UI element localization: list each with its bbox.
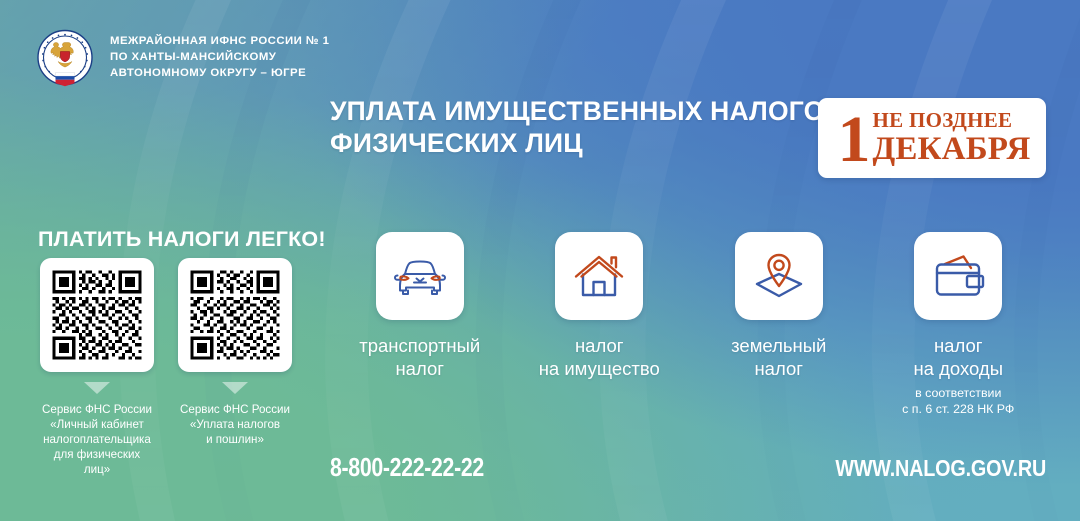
tax-payment-banner: МЕЖРАЙОННАЯ ИФНС РОССИИ № 1 ПО ХАНТЫ-МАН…: [0, 0, 1080, 521]
page-title: УПЛАТА ИМУЩЕСТВЕННЫХ НАЛОГОВ ФИЗИЧЕСКИХ …: [330, 95, 844, 159]
qr-code-image: [49, 267, 145, 363]
header-line-3: АВТОНОМНОМУ ОКРУГУ – ЮГРЕ: [110, 65, 329, 81]
deadline-badge: 1 НЕ ПОЗДНЕЕ ДЕКАБРЯ: [818, 98, 1046, 178]
tax-card-income[interactable]: налог на доходы в соответствии с п. 6 ст…: [869, 232, 1049, 417]
website-url[interactable]: WWW.NALOG.GOV.RU: [835, 455, 1046, 482]
qr-code-card[interactable]: [178, 258, 292, 372]
page-title-line-2: ФИЗИЧЕСКИХ ЛИЦ: [330, 127, 844, 159]
tax-card-sublabel: в соответствии с п. 6 ст. 228 НК РФ: [902, 386, 1014, 417]
chevron-down-triangle-icon: [84, 382, 110, 394]
deadline-month-label: ДЕКАБРЯ: [872, 133, 1030, 166]
qr-code-list: Сервис ФНС России «Личный кабинет налого…: [40, 258, 292, 477]
tax-card-tile: [376, 232, 464, 320]
deadline-day-number: 1: [837, 110, 868, 170]
car-front-icon: [391, 252, 449, 300]
chevron-down-triangle-icon: [222, 382, 248, 394]
qr-caption: Сервис ФНС России «Уплата налогов и пошл…: [180, 402, 290, 447]
qr-code-image: [187, 267, 283, 363]
tax-card-transport[interactable]: транспортный налог: [330, 232, 510, 417]
qr-item-lichnyy-kabinet: Сервис ФНС России «Личный кабинет налого…: [40, 258, 154, 477]
deadline-prefix-label: НЕ ПОЗДНЕЕ: [872, 110, 1012, 131]
qr-section-heading: ПЛАТИТЬ НАЛОГИ ЛЕГКО!: [38, 227, 326, 252]
map-pin-land-plot-icon: [751, 250, 807, 302]
tax-card-label: транспортный налог: [359, 334, 480, 380]
tax-card-land[interactable]: земельный налог: [689, 232, 869, 417]
tax-type-cards: транспортный налог налог на имущество: [330, 232, 1048, 417]
tax-card-tile: [914, 232, 1002, 320]
tax-card-tile: [735, 232, 823, 320]
federal-tax-service-emblem: [34, 28, 96, 90]
tax-card-label: налог на имущество: [539, 334, 660, 380]
wallet-icon: [929, 252, 987, 300]
header: МЕЖРАЙОННАЯ ИФНС РОССИИ № 1 ПО ХАНТЫ-МАН…: [34, 28, 329, 90]
tax-card-label: налог на доходы: [913, 334, 1003, 380]
qr-code-card[interactable]: [40, 258, 154, 372]
tax-card-tile: [555, 232, 643, 320]
tax-card-property[interactable]: налог на имущество: [510, 232, 690, 417]
header-line-2: ПО ХАНТЫ-МАНСИЙСКОМУ: [110, 49, 329, 65]
house-icon: [571, 251, 627, 301]
qr-item-uplata-nalogov: Сервис ФНС России «Уплата налогов и пошл…: [178, 258, 292, 477]
tax-card-label: земельный налог: [731, 334, 826, 380]
hotline-phone-number[interactable]: 8-800-222-22-22: [330, 452, 484, 483]
qr-caption: Сервис ФНС России «Личный кабинет налого…: [40, 402, 154, 477]
header-agency-name: МЕЖРАЙОННАЯ ИФНС РОССИИ № 1 ПО ХАНТЫ-МАН…: [110, 28, 329, 82]
page-title-line-1: УПЛАТА ИМУЩЕСТВЕННЫХ НАЛОГОВ: [330, 95, 844, 127]
header-line-1: МЕЖРАЙОННАЯ ИФНС РОССИИ № 1: [110, 33, 329, 49]
